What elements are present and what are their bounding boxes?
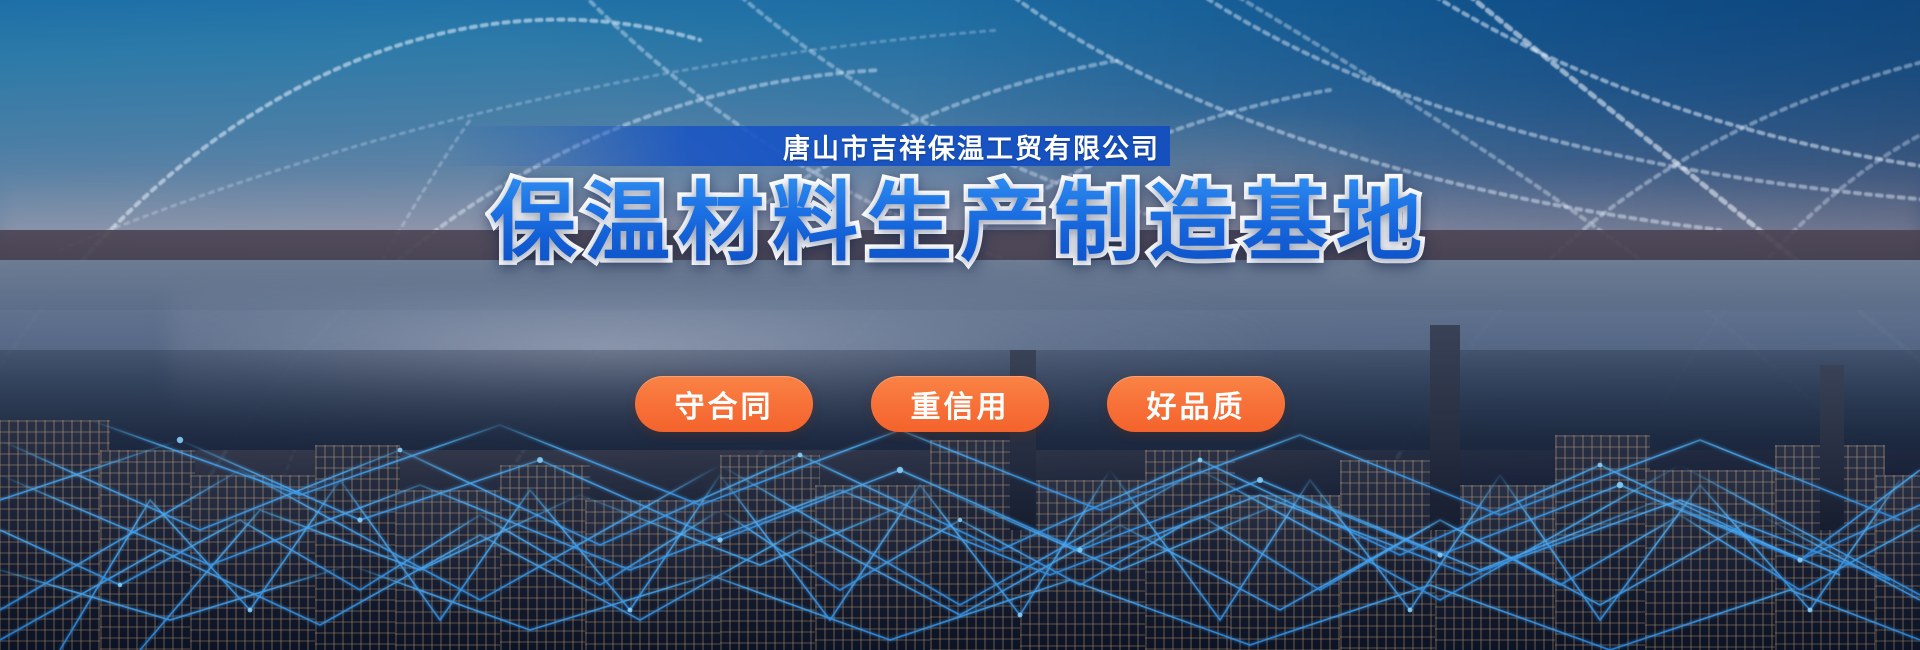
badge-haopinzhi[interactable]: 好品质 (1107, 376, 1285, 432)
company-name: 唐山市吉祥保温工贸有限公司 (783, 127, 1160, 166)
hero-banner: 唐山市吉祥保温工贸有限公司 保温材料生产制造基地 保温材料生产制造基地 守合同 … (0, 0, 1920, 650)
company-name-bar: 唐山市吉祥保温工贸有限公司 (440, 126, 1170, 166)
badge-row: 守合同 重信用 好品质 (0, 376, 1920, 432)
network-mesh-overlay (0, 320, 1920, 650)
badge-zhongxinyong[interactable]: 重信用 (871, 376, 1049, 432)
badge-shouhetong[interactable]: 守合同 (635, 376, 813, 432)
